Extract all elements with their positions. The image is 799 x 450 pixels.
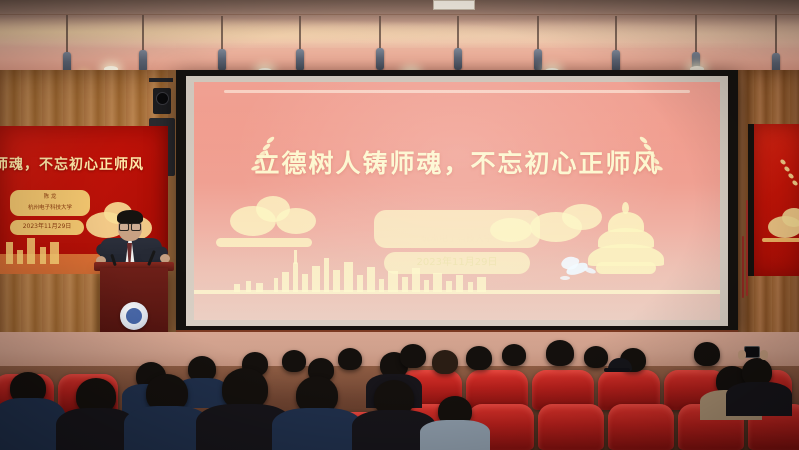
projector-light-overlay [194, 82, 720, 320]
ceiling-seam [0, 14, 799, 15]
ceiling-light-fixture [534, 49, 542, 71]
pendant-stem [615, 16, 617, 53]
wheat-motif [783, 166, 790, 173]
projection-screen: 立德树人铸师魂，不忘初心正师风 陈 龙 杭州电子科技大学 2023年11月29日 [186, 76, 728, 326]
audience-head [282, 350, 306, 372]
smartphone-icon[interactable] [744, 346, 760, 358]
audience-shoulders [726, 382, 792, 416]
audience-head [584, 346, 608, 368]
ceiling-light-fixture [139, 50, 147, 72]
hand [738, 350, 746, 360]
audience-head [546, 340, 574, 366]
wheat-motif [787, 173, 794, 180]
ceiling-light-fixture [376, 48, 384, 70]
side-speaker-name: 陈 龙 [10, 190, 90, 201]
auditorium-photo: 师魂，不忘初心正师风 陈 龙 杭州电子科技大学 2023年11月29日 [0, 0, 799, 450]
pendant-stem [775, 15, 777, 55]
eyeglasses-icon [119, 223, 141, 229]
auditorium-seat[interactable] [608, 404, 674, 450]
ceiling-light-fixture [454, 48, 462, 70]
audience-head [432, 350, 458, 374]
ceiling-light-fixture [612, 50, 620, 72]
cloud-motif [782, 208, 799, 227]
audience-head [338, 348, 362, 370]
camera-lens-icon [156, 92, 169, 105]
side-date-pill: 2023年11月29日 [10, 220, 84, 235]
wheat-motif [779, 159, 786, 166]
side-screen-title: 师魂，不忘初心正师风 [0, 154, 144, 174]
presentation-slide: 立德树人铸师魂，不忘初心正师风 陈 龙 杭州电子科技大学 2023年11月29日 [194, 82, 720, 320]
side-display-right [748, 124, 799, 276]
pendant-stem [66, 15, 68, 55]
audience-shoulders [420, 420, 490, 450]
pendant-stem [379, 16, 381, 51]
auditorium-seat[interactable] [538, 404, 604, 450]
ceiling-light-fixture [296, 49, 304, 71]
side-speaker-pill: 陈 龙 杭州电子科技大学 [10, 190, 90, 216]
building-motif [40, 247, 46, 264]
side-date: 2023年11月29日 [10, 220, 84, 234]
pendant-stem [695, 15, 697, 54]
audience-shoulders [272, 408, 362, 450]
building-motif [27, 238, 35, 264]
skyline-motif [762, 238, 799, 242]
side-affiliation: 杭州电子科技大学 [10, 201, 90, 212]
hand [760, 350, 768, 360]
pendant-stem [221, 16, 223, 52]
building-motif [6, 242, 13, 264]
university-emblem-inner [126, 308, 142, 324]
audience-head [694, 342, 720, 366]
pendant-stem [142, 15, 144, 53]
audience-head [400, 344, 426, 368]
building-motif [50, 242, 59, 264]
pendant-stem [537, 16, 539, 52]
pendant-stem [299, 16, 301, 52]
camera-mount-arm [149, 78, 173, 82]
pendant-stem [457, 16, 459, 51]
ceiling-vent [433, 0, 475, 10]
power-cable [742, 236, 744, 298]
speaker-hair [117, 210, 143, 224]
audience-head [502, 344, 526, 366]
building-motif [17, 250, 23, 264]
ceiling-light-fixture [218, 49, 226, 71]
wheat-motif [791, 180, 798, 187]
cap-brim [604, 368, 630, 372]
audience-head [466, 346, 492, 370]
